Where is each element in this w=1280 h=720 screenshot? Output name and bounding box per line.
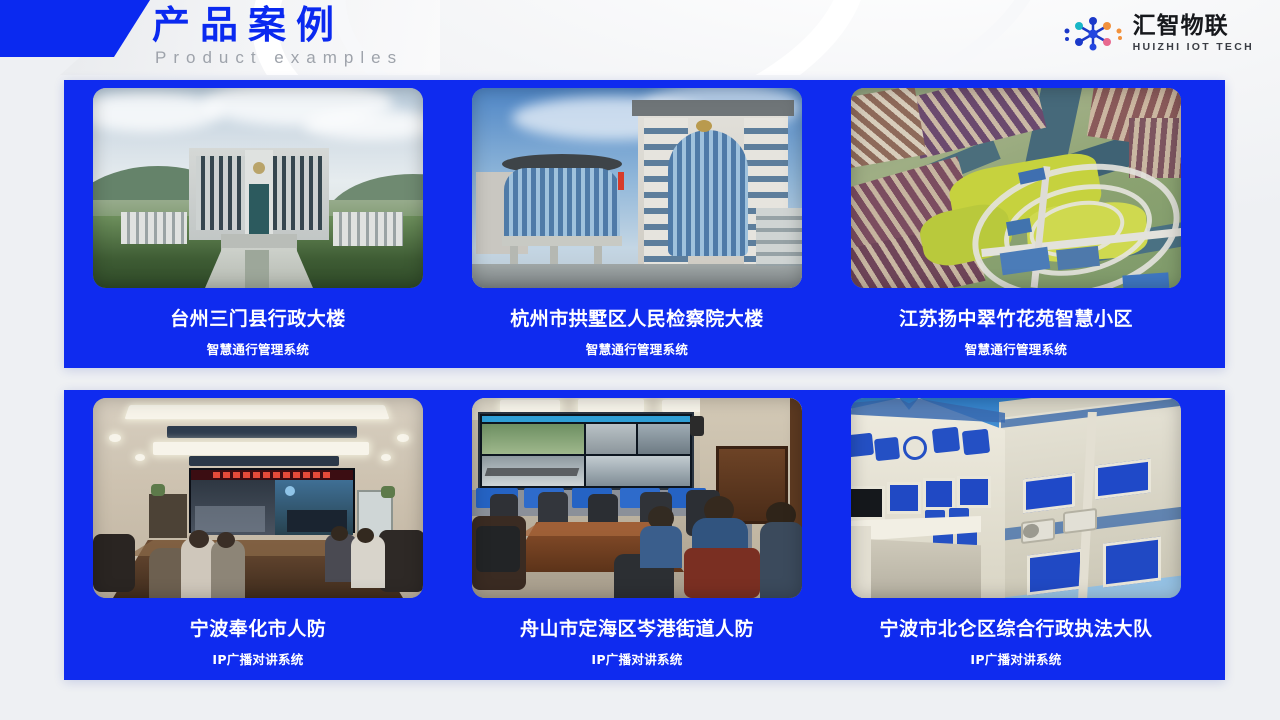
case-system: 智慧通行管理系统 [472,339,802,358]
brand-logo-text: 汇智物联 HUIZHI IOT TECH [1133,14,1254,54]
molecule-network-icon [1064,15,1126,53]
case-system: IP广播对讲系统 [851,649,1181,668]
case-card[interactable]: 江苏扬中翠竹花苑智慧小区 智慧通行管理系统 [851,88,1181,368]
page-title: 产品案例 [152,2,403,48]
case-title: 宁波奉化市人防 [93,614,423,641]
government-building-photo [93,88,423,288]
slide-canvas: 产品案例 Product examples [0,0,1280,720]
case-title: 江苏扬中翠竹花苑智慧小区 [851,304,1181,331]
case-system: IP广播对讲系统 [472,649,802,668]
case-panel-row-2: 宁波奉化市人防 IP广播对讲系统 [64,390,1225,680]
procuratorate-building-photo [472,88,802,288]
case-card[interactable]: 宁波奉化市人防 IP广播对讲系统 [93,398,423,680]
case-card[interactable]: 舟山市定海区岑港街道人防 IP广播对讲系统 [472,398,802,680]
brand-logo: 汇智物联 HUIZHI IOT TECH [1064,14,1254,54]
case-title: 宁波市北仑区综合行政执法大队 [851,614,1181,641]
aerial-residential-district-photo [851,88,1181,288]
case-card[interactable]: 杭州市拱墅区人民检察院大楼 智慧通行管理系统 [472,88,802,368]
case-row-1: 台州三门县行政大楼 智慧通行管理系统 [64,80,1225,368]
slide-header: 产品案例 Product examples [0,0,1280,75]
case-title: 台州三门县行政大楼 [93,304,423,331]
conference-room-led-wall-photo [93,398,423,598]
case-system: IP广播对讲系统 [93,649,423,668]
brand-name-en: HUIZHI IOT TECH [1133,40,1254,54]
brand-name-cn: 汇智物联 [1133,14,1254,39]
case-title: 舟山市定海区岑港街道人防 [472,614,802,641]
case-card[interactable]: 宁波市北仑区综合行政执法大队 IP广播对讲系统 [851,398,1181,680]
case-card[interactable]: 台州三门县行政大楼 智慧通行管理系统 [93,88,423,368]
header-swoosh-decoration-secondary [313,0,1067,75]
case-title: 杭州市拱墅区人民检察院大楼 [472,304,802,331]
case-system: 智慧通行管理系统 [93,339,423,358]
case-row-2: 宁波奉化市人防 IP广播对讲系统 [64,390,1225,680]
page-title-block: 产品案例 Product examples [152,2,403,69]
case-system: 智慧通行管理系统 [851,339,1181,358]
page-subtitle: Product examples [155,47,403,69]
law-enforcement-building-photo [851,398,1181,598]
control-room-video-wall-photo [472,398,802,598]
case-panel-row-1: 台州三门县行政大楼 智慧通行管理系统 [64,80,1225,368]
